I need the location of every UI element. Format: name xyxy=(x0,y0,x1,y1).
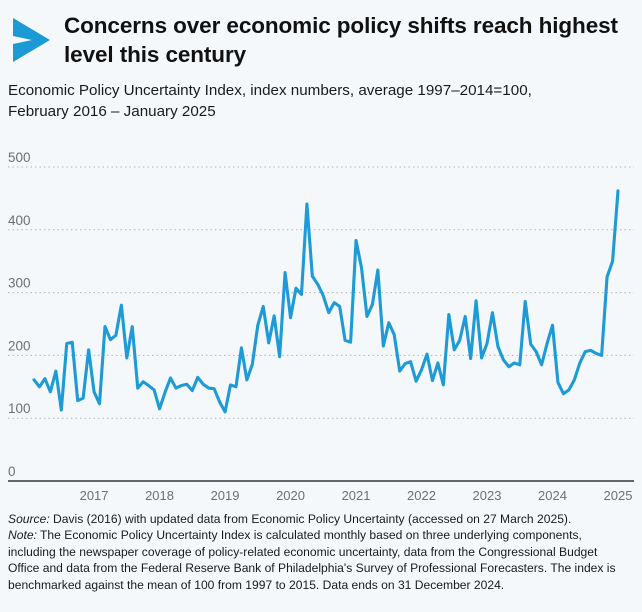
x-axis-tick-label: 2025 xyxy=(604,488,633,503)
x-axis-tick-label: 2022 xyxy=(407,488,436,503)
x-axis-tick-label: 2021 xyxy=(342,488,371,503)
source-text: Davis (2016) with updated data from Econ… xyxy=(50,512,572,526)
x-axis-tick-label: 2017 xyxy=(80,488,109,503)
y-axis-tick-label: 0 xyxy=(8,464,16,479)
chart-area: 0100200300400500 20172018201920202021202… xyxy=(0,135,642,505)
y-axis-tick-label: 400 xyxy=(8,213,31,228)
method-note: Note: The Economic Policy Uncertainty In… xyxy=(8,527,632,593)
page-title: Concerns over economic policy shifts rea… xyxy=(64,12,628,70)
chart-page: Concerns over economic policy shifts rea… xyxy=(0,0,642,612)
source-label: Source: xyxy=(8,512,50,526)
y-axis-tick-labels: 0100200300400500 xyxy=(8,150,31,479)
y-axis-tick-label: 500 xyxy=(8,150,31,165)
chart-subtitle: Economic Policy Uncertainty Index, index… xyxy=(8,80,583,123)
chevron-right-icon xyxy=(10,16,52,64)
x-axis-tick-label: 2020 xyxy=(276,488,305,503)
source-note: Source: Davis (2016) with updated data f… xyxy=(8,511,632,528)
chart-footnotes: Source: Davis (2016) with updated data f… xyxy=(8,511,632,594)
y-axis-tick-label: 100 xyxy=(8,401,31,416)
x-axis-tick-label: 2024 xyxy=(538,488,567,503)
y-axis-tick-label: 300 xyxy=(8,275,31,290)
x-axis-tick-labels: 201720182019202020212022202320242025 xyxy=(80,488,633,503)
epu-series-line xyxy=(34,191,618,412)
x-axis-tick-label: 2018 xyxy=(145,488,174,503)
x-axis-tick-label: 2023 xyxy=(473,488,502,503)
epu-line-chart: 0100200300400500 20172018201920202021202… xyxy=(0,135,642,505)
y-axis-tick-label: 200 xyxy=(8,338,31,353)
chart-header: Concerns over economic policy shifts rea… xyxy=(0,0,642,70)
note-label: Note: xyxy=(8,528,37,542)
x-axis-tick-label: 2019 xyxy=(211,488,240,503)
note-text: The Economic Policy Uncertainty Index is… xyxy=(8,528,616,592)
